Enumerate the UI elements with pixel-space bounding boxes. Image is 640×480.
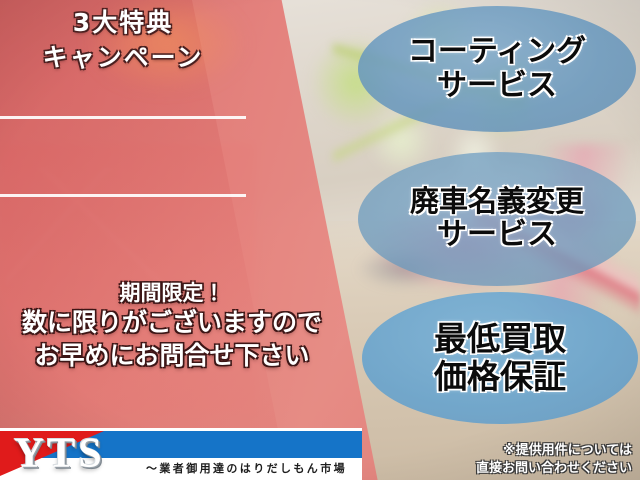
disclaimer-footnote: ※提供用件については 直接お問い合わせください xyxy=(420,442,632,478)
benefit-badge-scrap-title-transfer-service: 廃車名義変更 サービス xyxy=(358,152,636,286)
disclaimer-line-1: ※提供用件については xyxy=(420,442,632,460)
promo-body-line-3: お早めにお問合せ下さい xyxy=(0,340,344,373)
benefit-badge-minimum-purchase-price-guarantee: 最低買取 価格保証 xyxy=(362,292,638,424)
benefit-badge-coating-service: コーティング サービス xyxy=(358,6,636,132)
company-logo-bar: YTS 〜業者御用達のはりだしもん市場 xyxy=(0,428,362,480)
benefit-3-line-2: 価格保証 xyxy=(434,358,566,396)
benefit-2-line-1: 廃車名義変更 xyxy=(410,185,584,218)
benefit-3-line-1: 最低買取 xyxy=(434,320,566,358)
promo-headline: 3大特典 キャンペーン xyxy=(0,0,246,72)
promo-body-line-2: 数に限りがございますので xyxy=(0,307,344,340)
benefit-1-line-2: サービス xyxy=(437,69,557,103)
promo-body-copy: 期間限定！ 数に限りがございますので お早めにお問合せ下さい xyxy=(0,280,344,372)
disclaimer-line-2: 直接お問い合わせください xyxy=(420,460,632,478)
logo-tagline: 〜業者御用達のはりだしもん市場 xyxy=(146,460,347,476)
benefit-2-line-2: サービス xyxy=(437,218,557,252)
promo-headline-line-2: キャンペーン xyxy=(0,37,246,72)
promo-body-line-1: 期間限定！ xyxy=(0,280,344,307)
headline-divider-top xyxy=(0,116,246,119)
campaign-banner: 3大特典 キャンペーン 期間限定！ 数に限りがございますので お早めにお問合せ下… xyxy=(0,0,640,480)
benefit-1-line-1: コーティング xyxy=(408,35,586,69)
promo-headline-line-1: 3大特典 xyxy=(0,0,246,37)
headline-divider-bottom xyxy=(0,194,246,197)
logo-wordmark: YTS xyxy=(14,430,105,478)
